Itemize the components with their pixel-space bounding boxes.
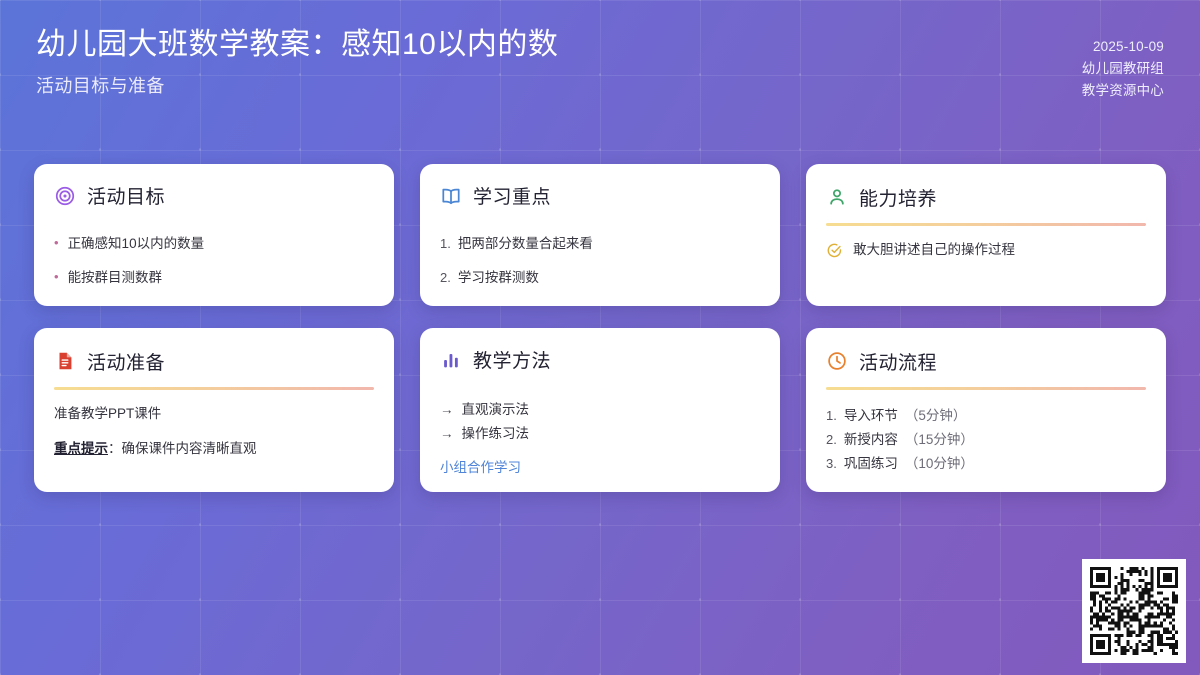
card-title: 学习重点 (473, 182, 551, 209)
qr-code[interactable] (1082, 559, 1186, 663)
card-divider (826, 387, 1146, 390)
document-icon (54, 350, 76, 372)
card-body: 1.把两部分数量合起来看2.学习按群测数 (440, 234, 760, 303)
card-body: 1.导入环节（5分钟）2.新授内容（15分钟）3.巩固练习（10分钟） (826, 404, 1146, 476)
card-divider (54, 387, 374, 390)
list-item-text: 巩固练习 (844, 452, 898, 476)
list-item-text: 学习按群测数 (458, 268, 539, 288)
bar-chart-icon (440, 349, 462, 371)
list-item: •能按群目测数群 (54, 268, 374, 288)
page-subtitle: 活动目标与准备 (36, 72, 558, 98)
card-title: 教学方法 (473, 346, 551, 373)
list-item-number: 1. (826, 404, 837, 427)
header-meta: 2025-10-09 幼儿园教研组 教学资源中心 (1082, 26, 1164, 102)
card-body: 敢大胆讲述自己的操作过程 (826, 240, 1146, 260)
card-title: 能力培养 (859, 184, 937, 211)
note-label: 重点提示 (54, 441, 108, 456)
list-item-number: 1. (440, 234, 451, 254)
slide-root: 幼儿园大班数学教案：感知10以内的数 活动目标与准备 2025-10-09 幼儿… (0, 0, 1200, 675)
card-title: 活动流程 (859, 348, 937, 375)
preparation-text: 准备教学PPT课件 (54, 404, 374, 424)
check-circle-icon (826, 242, 843, 259)
list-item-duration: （5分钟） (905, 404, 967, 428)
card-header: 教学方法 (440, 346, 760, 373)
list-item: 1.把两部分数量合起来看 (440, 234, 760, 254)
list-item-duration: （15分钟） (905, 428, 974, 452)
method-link[interactable]: 小组合作学习 (440, 458, 760, 478)
card-header: 活动目标 (54, 182, 374, 209)
list-item: →直观演示法 (440, 398, 760, 421)
highlight-note: 重点提示：确保课件内容清晰直观 (54, 439, 374, 459)
note-separator: ： (108, 441, 122, 456)
card-header: 能力培养 (826, 182, 1146, 212)
list-item-text: 操作练习法 (462, 422, 530, 445)
page-title: 幼儿园大班数学教案：感知10以内的数 (36, 26, 558, 64)
card-methods: 教学方法→直观演示法→操作练习法小组合作学习 (420, 328, 780, 492)
list-item: →操作练习法 (440, 422, 760, 445)
meta-org: 幼儿园教研组 (1082, 58, 1164, 80)
qr-code-image (1090, 567, 1178, 655)
card-title: 活动准备 (87, 348, 165, 375)
list-item: 2.学习按群测数 (440, 268, 760, 288)
card-header: 活动流程 (826, 346, 1146, 376)
arrow-right-icon: → (440, 422, 454, 445)
card-ability: 能力培养敢大胆讲述自己的操作过程 (806, 164, 1166, 306)
card-body: 准备教学PPT课件重点提示：确保课件内容清晰直观 (54, 404, 374, 460)
meta-date: 2025-10-09 (1093, 36, 1164, 58)
card-grid: 活动目标•正确感知10以内的数量•能按群目测数群学习重点1.把两部分数量合起来看… (34, 164, 1166, 492)
slide-header: 幼儿园大班数学教案：感知10以内的数 活动目标与准备 2025-10-09 幼儿… (0, 0, 1200, 128)
open-book-icon (440, 185, 462, 207)
list-item-text: 把两部分数量合起来看 (458, 234, 593, 254)
card-preparation: 活动准备准备教学PPT课件重点提示：确保课件内容清晰直观 (34, 328, 394, 492)
target-icon (54, 185, 76, 207)
list-item-text: 新授内容 (844, 428, 898, 452)
bullet-dot-icon: • (54, 236, 59, 249)
list-item-number: 3. (826, 452, 837, 475)
list-item-text: 能按群目测数群 (68, 268, 163, 288)
list-item: •正确感知10以内的数量 (54, 234, 374, 254)
list-item: 1.导入环节（5分钟） (826, 404, 1146, 428)
card-header: 活动准备 (54, 346, 374, 376)
list-item: 2.新授内容（15分钟） (826, 428, 1146, 452)
clock-icon (826, 350, 848, 372)
header-left: 幼儿园大班数学教案：感知10以内的数 活动目标与准备 (36, 26, 558, 98)
card-title: 活动目标 (87, 182, 165, 209)
bullet-dot-icon: • (54, 270, 59, 283)
list-item-number: 2. (440, 268, 451, 288)
list-item: 3.巩固练习（10分钟） (826, 452, 1146, 476)
person-icon (826, 186, 848, 208)
card-key-points: 学习重点1.把两部分数量合起来看2.学习按群测数 (420, 164, 780, 306)
list-item-text: 直观演示法 (462, 398, 530, 421)
card-divider (826, 223, 1146, 226)
list-item-duration: （10分钟） (905, 452, 974, 476)
list-item-text: 导入环节 (844, 404, 898, 428)
card-objectives: 活动目标•正确感知10以内的数量•能按群目测数群 (34, 164, 394, 306)
list-item: 敢大胆讲述自己的操作过程 (826, 240, 1146, 260)
meta-center: 教学资源中心 (1082, 80, 1164, 102)
list-item-text: 正确感知10以内的数量 (68, 234, 205, 254)
card-body: →直观演示法→操作练习法小组合作学习 (440, 398, 760, 478)
card-flow: 活动流程1.导入环节（5分钟）2.新授内容（15分钟）3.巩固练习（10分钟） (806, 328, 1166, 492)
card-header: 学习重点 (440, 182, 760, 209)
arrow-right-icon: → (440, 398, 454, 421)
card-body: •正确感知10以内的数量•能按群目测数群 (54, 234, 374, 303)
note-text: 确保课件内容清晰直观 (122, 441, 257, 456)
list-item-text: 敢大胆讲述自己的操作过程 (853, 240, 1015, 260)
list-item-number: 2. (826, 428, 837, 451)
